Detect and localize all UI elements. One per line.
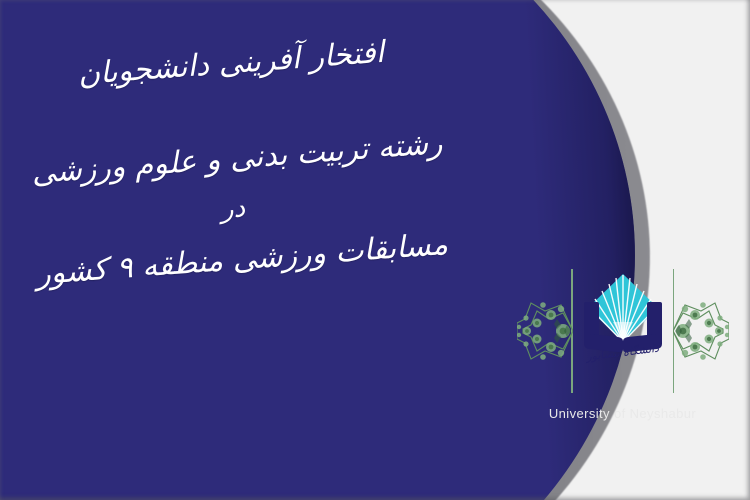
slide-text-block: افتخار آفرینی دانشجویان رشته تربیت بدنی … xyxy=(0,0,470,500)
presentation-slide: افتخار آفرینی دانشجویان رشته تربیت بدنی … xyxy=(0,0,750,500)
islamic-arabesque-medallion-left-icon xyxy=(519,267,577,395)
slide-title-line-1: افتخار آفرینی دانشجویان xyxy=(0,29,463,98)
university-emblem: دانشگاه نیشابور xyxy=(577,272,669,390)
islamic-arabesque-medallion-right-icon xyxy=(669,267,727,395)
university-watermark-text: University of Neyshabur xyxy=(515,406,730,421)
university-logo-block: دانشگاه نیشابور xyxy=(515,258,730,403)
